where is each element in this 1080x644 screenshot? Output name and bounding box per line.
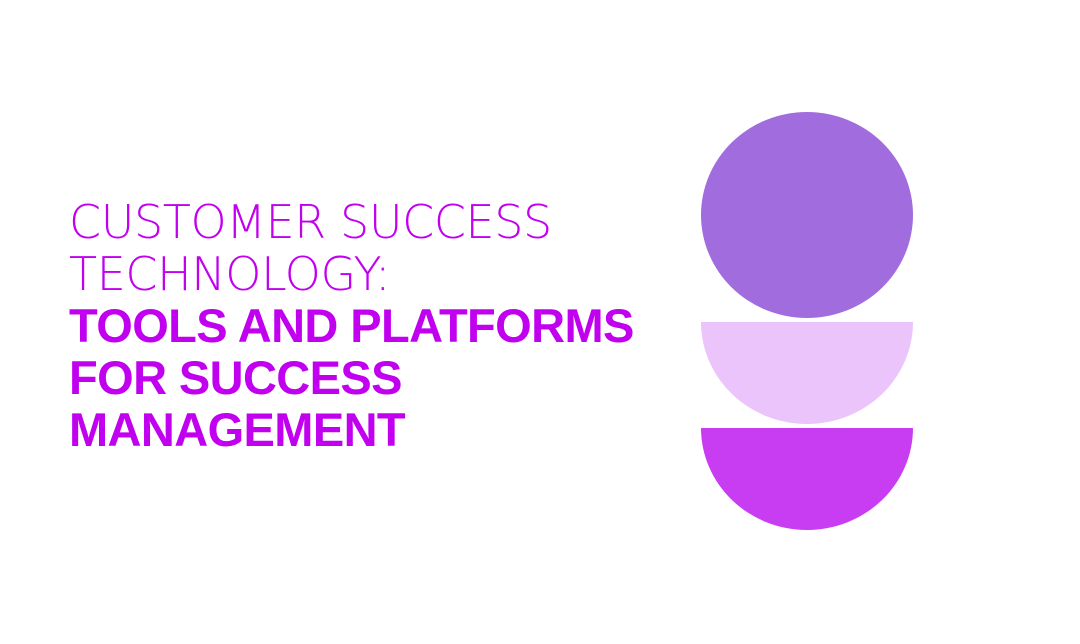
semicircle-magenta-shape xyxy=(701,428,913,530)
decorative-shape-stack xyxy=(701,112,913,530)
title-line-5: MANAGEMENT xyxy=(69,404,689,456)
title-line-4: FOR SUCCESS xyxy=(69,352,689,404)
circle-shape xyxy=(701,112,913,318)
title-line-1: CUSTOMER SUCCESS xyxy=(69,196,689,248)
slide-canvas: CUSTOMER SUCCESS TECHNOLOGY: TOOLS AND P… xyxy=(0,0,1080,644)
title-block: CUSTOMER SUCCESS TECHNOLOGY: TOOLS AND P… xyxy=(69,196,689,456)
title-line-2: TECHNOLOGY: xyxy=(69,248,689,300)
title-line-3: TOOLS AND PLATFORMS xyxy=(69,300,689,352)
semicircle-light-shape xyxy=(701,322,913,424)
